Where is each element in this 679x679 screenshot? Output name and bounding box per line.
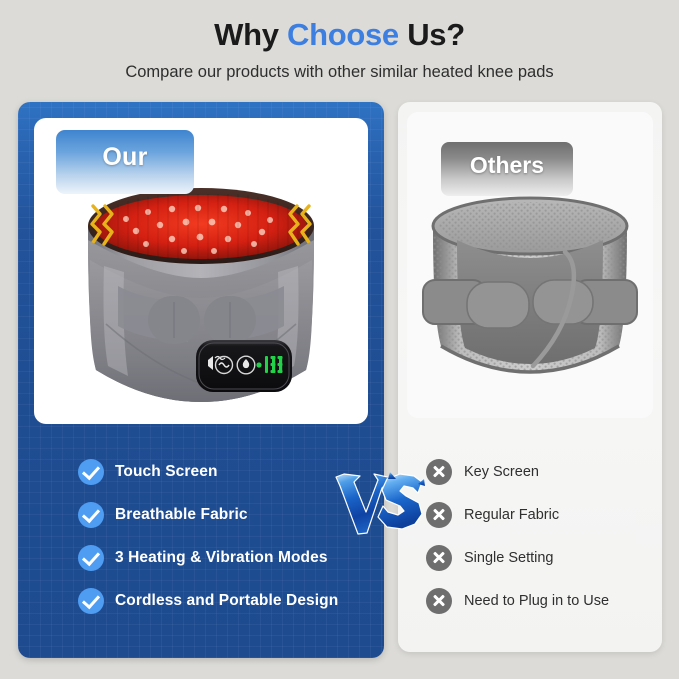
- check-icon: [78, 502, 104, 528]
- others-product-panel: Others: [398, 102, 662, 652]
- check-icon: [78, 588, 104, 614]
- page-title-part1: Why: [214, 17, 287, 52]
- page-title: Why Choose Us?: [0, 16, 679, 55]
- control-panel: [196, 340, 292, 392]
- page-title-highlight: Choose: [287, 17, 399, 52]
- our-feature-label: Cordless and Portable Design: [115, 592, 338, 610]
- our-product-image-card: Our: [34, 118, 368, 424]
- led-display: [265, 356, 283, 373]
- page-title-part2: Us?: [399, 17, 465, 52]
- list-item: Regular Fabric: [426, 493, 656, 536]
- others-feature-label: Single Setting: [464, 550, 553, 566]
- our-feature-label: Breathable Fabric: [115, 506, 248, 524]
- our-product-panel: Our: [18, 102, 384, 658]
- list-item: Key Screen: [426, 450, 656, 493]
- list-item: Single Setting: [426, 536, 656, 579]
- others-product-image: [415, 188, 645, 388]
- our-feature-label: Touch Screen: [115, 463, 218, 481]
- others-feature-list: Key Screen Regular Fabric Single Setting…: [426, 450, 656, 622]
- others-product-image-card: Others: [407, 112, 653, 418]
- our-product-image: [48, 174, 354, 422]
- others-feature-label: Key Screen: [464, 464, 539, 480]
- others-badge-label: Others: [441, 152, 573, 179]
- others-badge: Others: [441, 142, 573, 196]
- comparison-section: Our: [0, 98, 679, 668]
- others-feature-label: Regular Fabric: [464, 507, 559, 523]
- page-header: Why Choose Us? Compare our products with…: [0, 0, 679, 83]
- page-subtitle: Compare our products with other similar …: [0, 62, 679, 83]
- others-feature-label: Need to Plug in to Use: [464, 593, 609, 609]
- cross-icon: [426, 588, 452, 614]
- list-item: 3 Heating & Vibration Modes: [78, 536, 378, 579]
- our-feature-label: 3 Heating & Vibration Modes: [115, 549, 328, 567]
- list-item: Need to Plug in to Use: [426, 579, 656, 622]
- check-icon: [78, 459, 104, 485]
- power-indicator: [256, 362, 261, 367]
- our-badge-label: Our: [56, 143, 194, 172]
- our-badge: Our: [56, 130, 194, 194]
- cross-icon: [426, 545, 452, 571]
- check-icon: [78, 545, 104, 571]
- vs-badge: [330, 470, 430, 538]
- list-item: Cordless and Portable Design: [78, 579, 378, 622]
